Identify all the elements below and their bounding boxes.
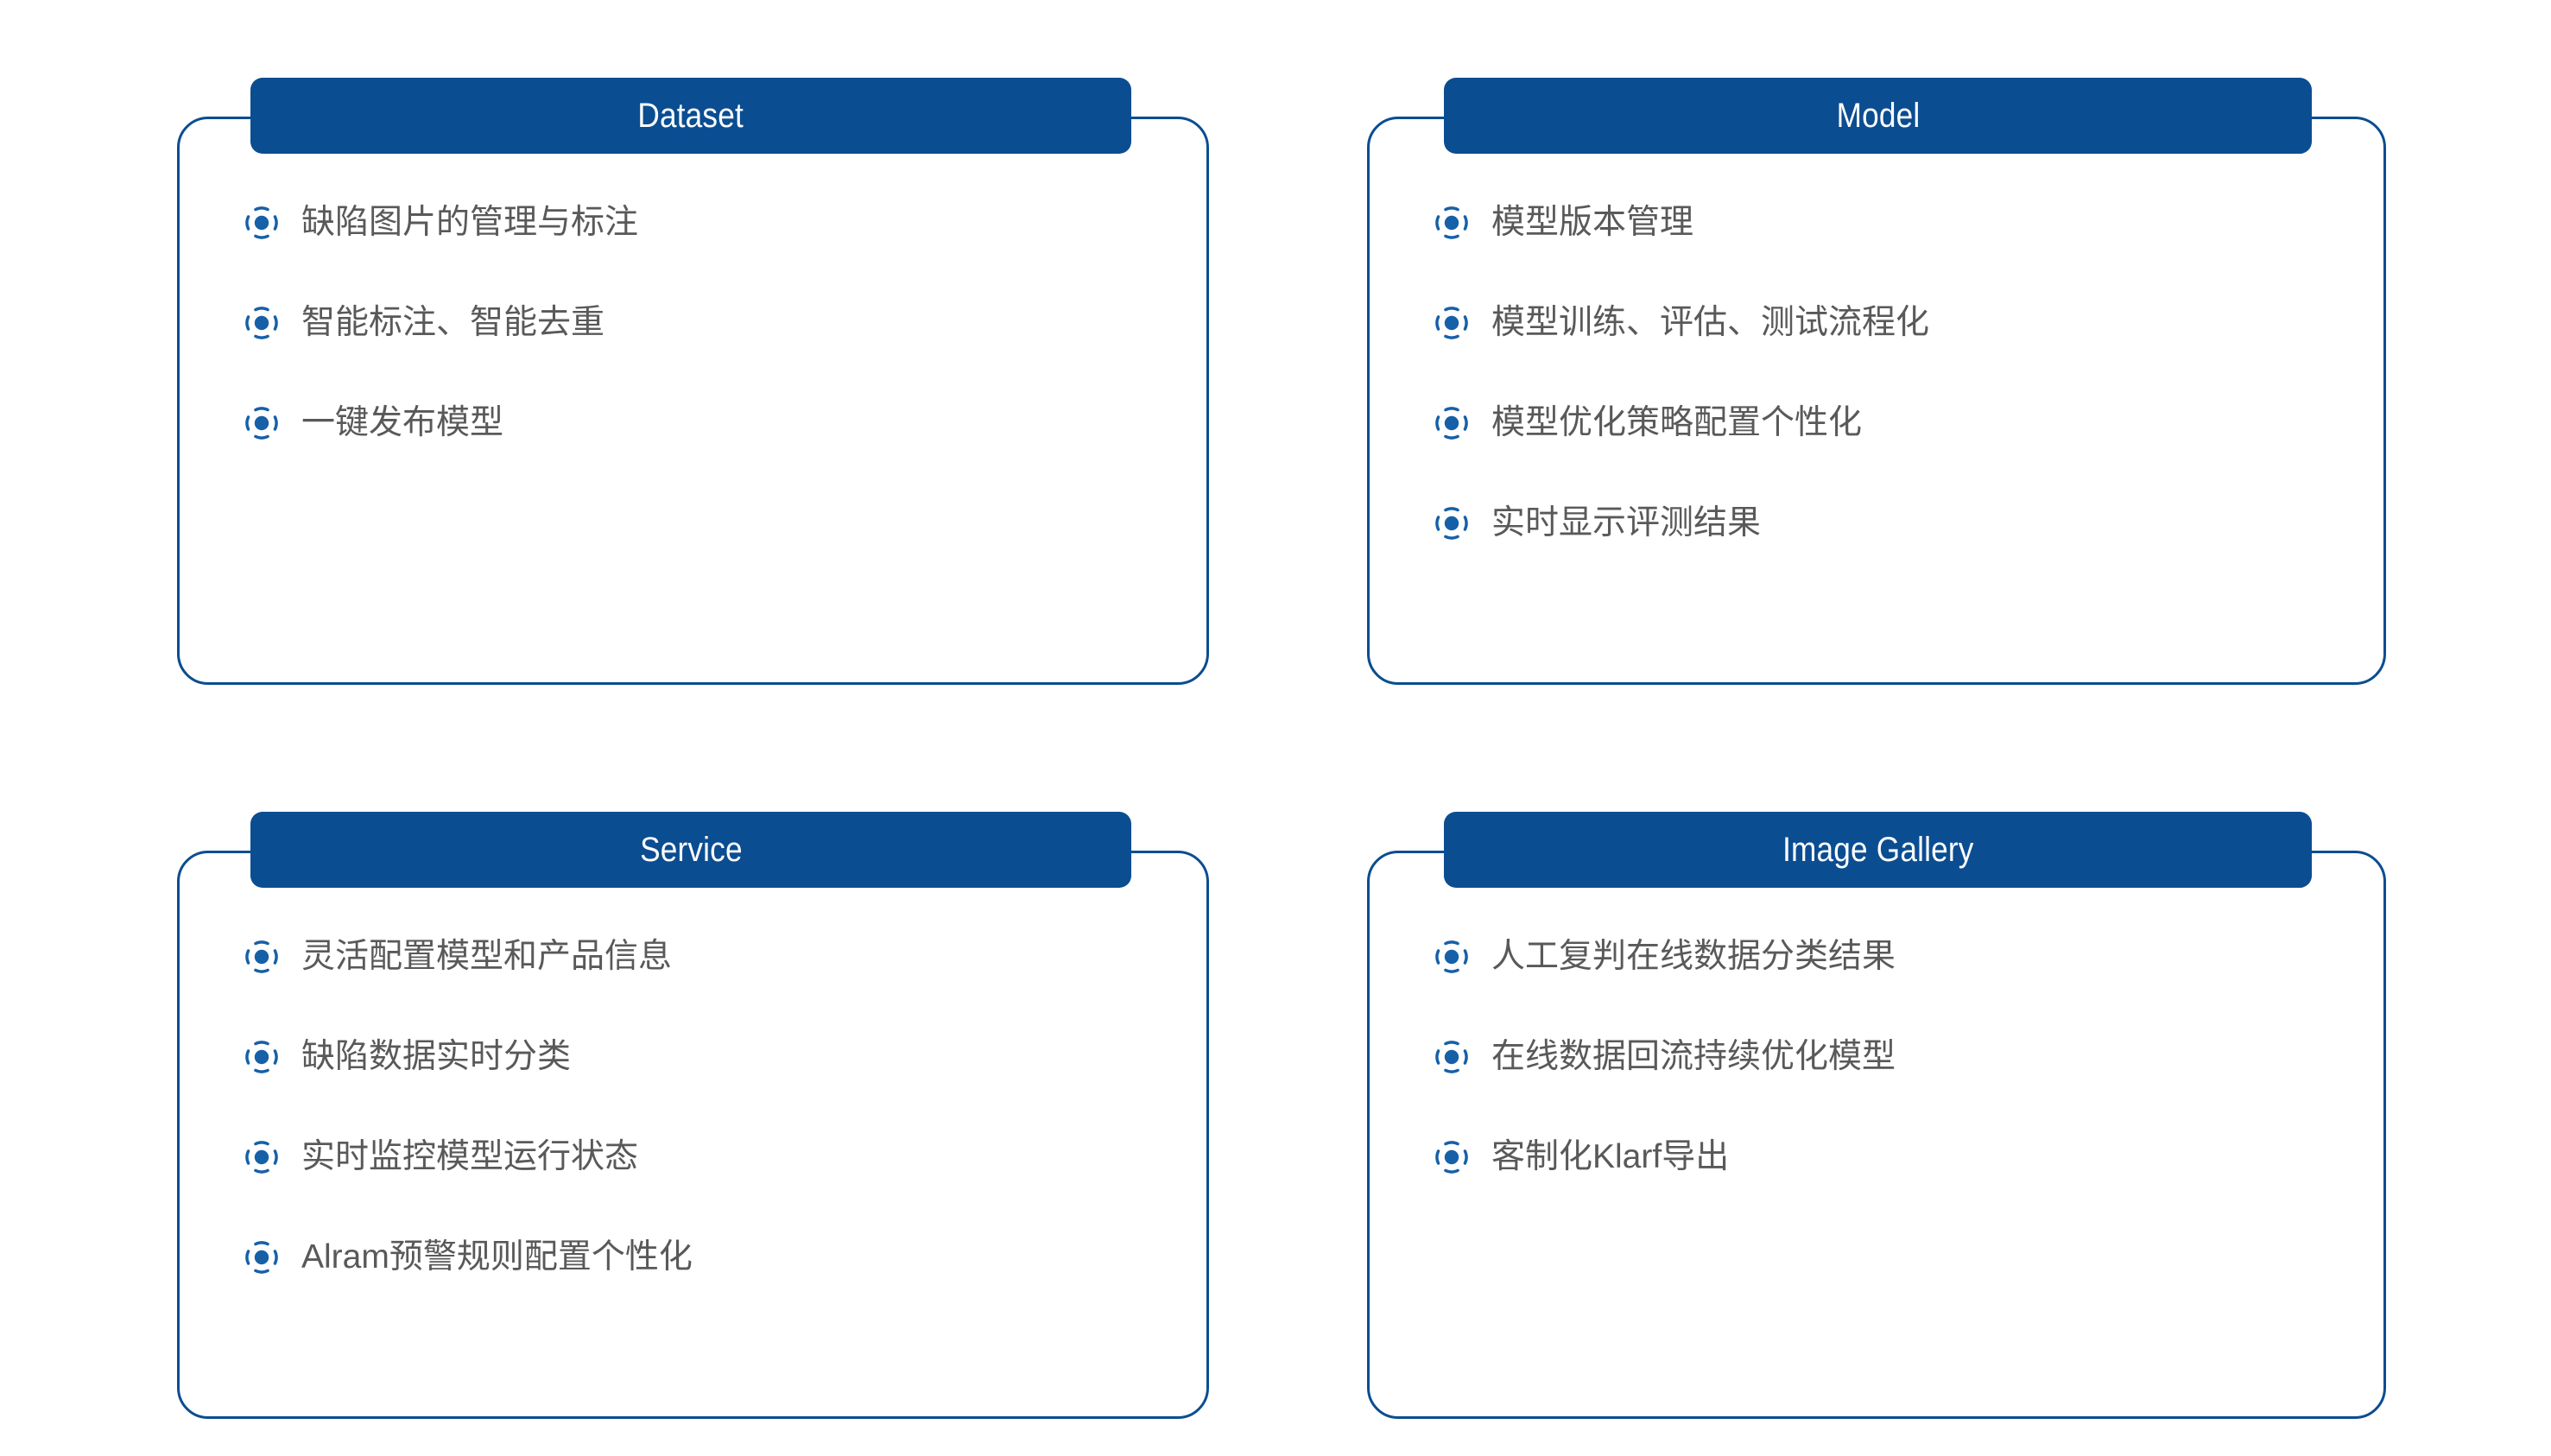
target-dot-icon <box>1434 1040 1469 1074</box>
list-item[interactable]: 人工复判在线数据分类结果 <box>1434 931 2352 983</box>
target-dot-icon <box>244 1240 279 1275</box>
target-dot-icon <box>1434 940 1469 974</box>
list-item-label: 灵活配置模型和产品信息 <box>301 939 672 976</box>
list-item-label: 缺陷图片的管理与标注 <box>301 205 638 242</box>
list-item[interactable]: 客制化Klarf导出 <box>1434 1131 2352 1183</box>
card-header-service[interactable]: Service <box>250 812 1131 888</box>
card-header-image-gallery[interactable]: Image Gallery <box>1444 812 2312 888</box>
list-item-label: 一键发布模型 <box>301 405 503 442</box>
list-item-label: 人工复判在线数据分类结果 <box>1491 939 1896 976</box>
target-dot-icon <box>244 1040 279 1074</box>
card-title: Model <box>1836 98 1920 133</box>
target-dot-icon <box>1434 206 1469 240</box>
card-header-dataset[interactable]: Dataset <box>250 78 1131 154</box>
list-item[interactable]: 模型优化策略配置个性化 <box>1434 397 2352 449</box>
target-dot-icon <box>244 1140 279 1174</box>
target-dot-icon <box>1434 1140 1469 1174</box>
list-item-label: 模型训练、评估、测试流程化 <box>1491 305 1929 342</box>
target-dot-icon <box>244 206 279 240</box>
list-item[interactable]: 一键发布模型 <box>244 397 1174 449</box>
feature-list-model: 模型版本管理 模型训练、评估、测试流程化 <box>1434 197 2352 598</box>
list-item-label: 模型版本管理 <box>1491 205 1693 242</box>
feature-list-service: 灵活配置模型和产品信息 缺陷数据实时分类 <box>244 931 1174 1332</box>
list-item-label: 智能标注、智能去重 <box>301 305 605 342</box>
list-item[interactable]: 模型版本管理 <box>1434 197 2352 249</box>
card-title: Image Gallery <box>1782 832 1973 867</box>
card-title: Service <box>640 832 743 867</box>
list-item[interactable]: 灵活配置模型和产品信息 <box>244 931 1174 983</box>
slide-canvas: Dataset 缺陷图片的管理与标注 <box>0 0 2551 1456</box>
target-dot-icon <box>1434 306 1469 340</box>
list-item[interactable]: Alram预警规则配置个性化 <box>244 1231 1174 1283</box>
list-item-label: 缺陷数据实时分类 <box>301 1039 571 1076</box>
feature-list-dataset: 缺陷图片的管理与标注 智能标注、智能去重 <box>244 197 1174 497</box>
list-item-label: Alram预警规则配置个性化 <box>301 1239 693 1276</box>
target-dot-icon <box>244 940 279 974</box>
list-item[interactable]: 实时监控模型运行状态 <box>244 1131 1174 1183</box>
list-item[interactable]: 在线数据回流持续优化模型 <box>1434 1031 2352 1083</box>
list-item-label: 模型优化策略配置个性化 <box>1491 405 1862 442</box>
list-item[interactable]: 智能标注、智能去重 <box>244 297 1174 349</box>
feature-list-image-gallery: 人工复判在线数据分类结果 在线数据回流持续优化模型 <box>1434 931 2352 1231</box>
target-dot-icon <box>244 306 279 340</box>
target-dot-icon <box>244 406 279 440</box>
list-item-label: 实时显示评测结果 <box>1491 505 1761 542</box>
list-item-label: 客制化Klarf导出 <box>1491 1139 1729 1176</box>
target-dot-icon <box>1434 406 1469 440</box>
list-item[interactable]: 模型训练、评估、测试流程化 <box>1434 297 2352 349</box>
target-dot-icon <box>1434 506 1469 541</box>
list-item[interactable]: 缺陷数据实时分类 <box>244 1031 1174 1083</box>
list-item-label: 实时监控模型运行状态 <box>301 1139 638 1176</box>
list-item[interactable]: 缺陷图片的管理与标注 <box>244 197 1174 249</box>
list-item-label: 在线数据回流持续优化模型 <box>1491 1039 1896 1076</box>
card-title: Dataset <box>638 98 744 133</box>
card-header-model[interactable]: Model <box>1444 78 2312 154</box>
list-item[interactable]: 实时显示评测结果 <box>1434 497 2352 549</box>
